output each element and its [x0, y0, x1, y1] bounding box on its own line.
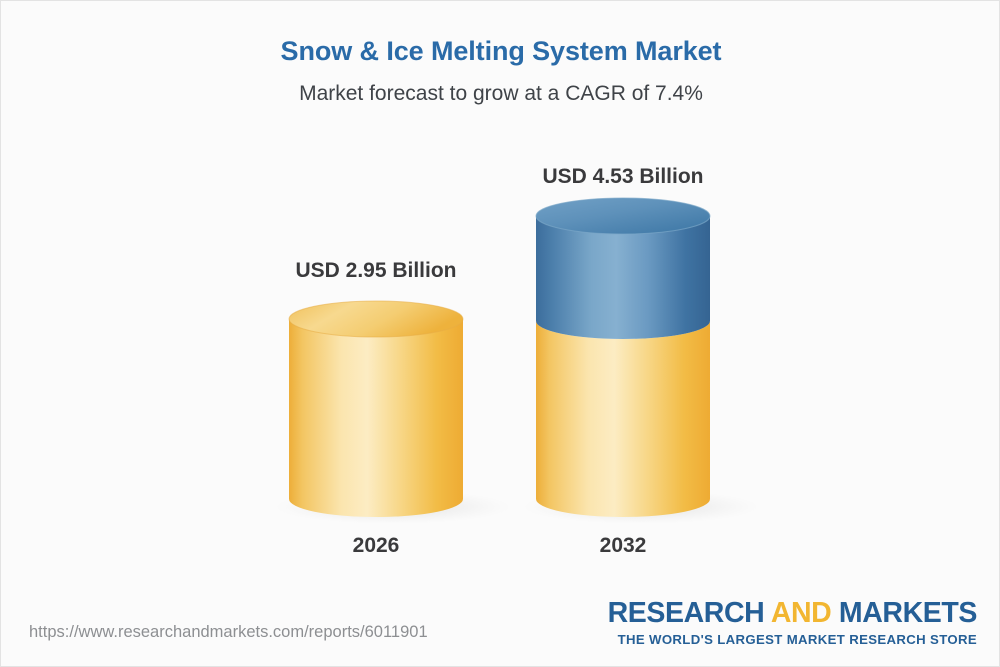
bar-2026 — [275, 301, 511, 524]
logo-word-markets: MARKETS — [831, 597, 977, 629]
bar-chart: USD 2.95 Billion USD 4.53 Billion 2026 2… — [1, 1, 1000, 601]
market-infographic: Snow & Ice Melting System Market Market … — [0, 0, 1000, 667]
logo-word-and: AND — [771, 597, 832, 629]
bar-2026-value-label: USD 2.95 Billion — [216, 259, 536, 283]
logo-word-research: RESEARCH — [608, 597, 771, 629]
report-url[interactable]: https://www.researchandmarkets.com/repor… — [29, 623, 428, 642]
research-and-markets-logo[interactable]: RESEARCH AND MARKETS THE WORLD'S LARGEST… — [608, 599, 977, 646]
bar-2032-segment-base — [536, 321, 710, 517]
logo-wordmark: RESEARCH AND MARKETS — [608, 599, 977, 628]
bar-2026-body — [289, 319, 463, 517]
chart-svg — [1, 1, 1000, 601]
bar-2032-category-label: 2032 — [463, 534, 783, 558]
bar-2032 — [523, 198, 759, 524]
logo-tagline: THE WORLD'S LARGEST MARKET RESEARCH STOR… — [608, 633, 977, 646]
bar-2032-value-label: USD 4.53 Billion — [463, 165, 783, 189]
